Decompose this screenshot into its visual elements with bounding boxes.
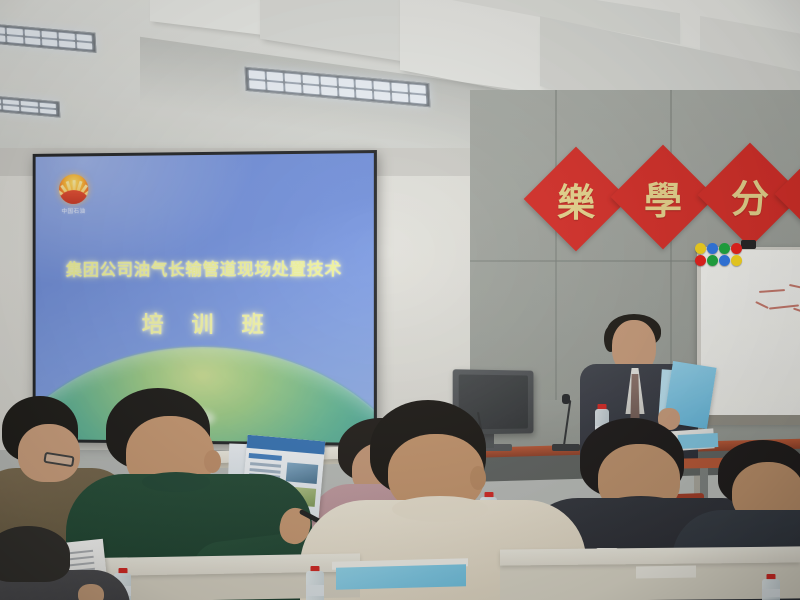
right-desk-top — [500, 546, 800, 565]
sweater-collar — [142, 472, 210, 492]
attendee-reading-papers — [0, 520, 128, 600]
recessed-grille-light-1 — [0, 23, 96, 53]
microphone-head — [562, 394, 570, 404]
whiteboard-magnets[interactable] — [695, 243, 742, 266]
attendee-ear — [204, 450, 221, 473]
desk-paper-right — [636, 565, 696, 578]
whiteboard-clip — [741, 240, 756, 249]
slide-title: 集团公司油气长输管道现场处置技术 — [36, 255, 374, 280]
attendee-hair — [0, 526, 70, 582]
water-bottle-front — [306, 566, 324, 600]
slide-subtitle: 培 训 班 — [36, 307, 374, 340]
petrochina-logo-text: 中国石油 — [53, 207, 94, 215]
attendee-hand — [78, 584, 104, 600]
desk-handout-blue — [336, 564, 466, 589]
water-bottle-right — [762, 574, 780, 600]
wall-banner-le-char: 樂 — [539, 162, 613, 236]
whiteboard-surface[interactable] — [701, 250, 800, 416]
jacket-collar — [392, 496, 488, 522]
petrochina-logo: 中国石油 — [53, 174, 94, 215]
wall-banner-partial-char: 享 — [790, 157, 800, 231]
wall-banner-xue-char: 學 — [626, 160, 700, 234]
petrochina-sun-icon — [59, 174, 88, 204]
whiteboard[interactable] — [697, 247, 800, 423]
photo-scene: 樂 學 分 享 — [0, 0, 800, 600]
recessed-grille-light-3 — [0, 94, 60, 117]
attendee-ear — [470, 466, 486, 490]
